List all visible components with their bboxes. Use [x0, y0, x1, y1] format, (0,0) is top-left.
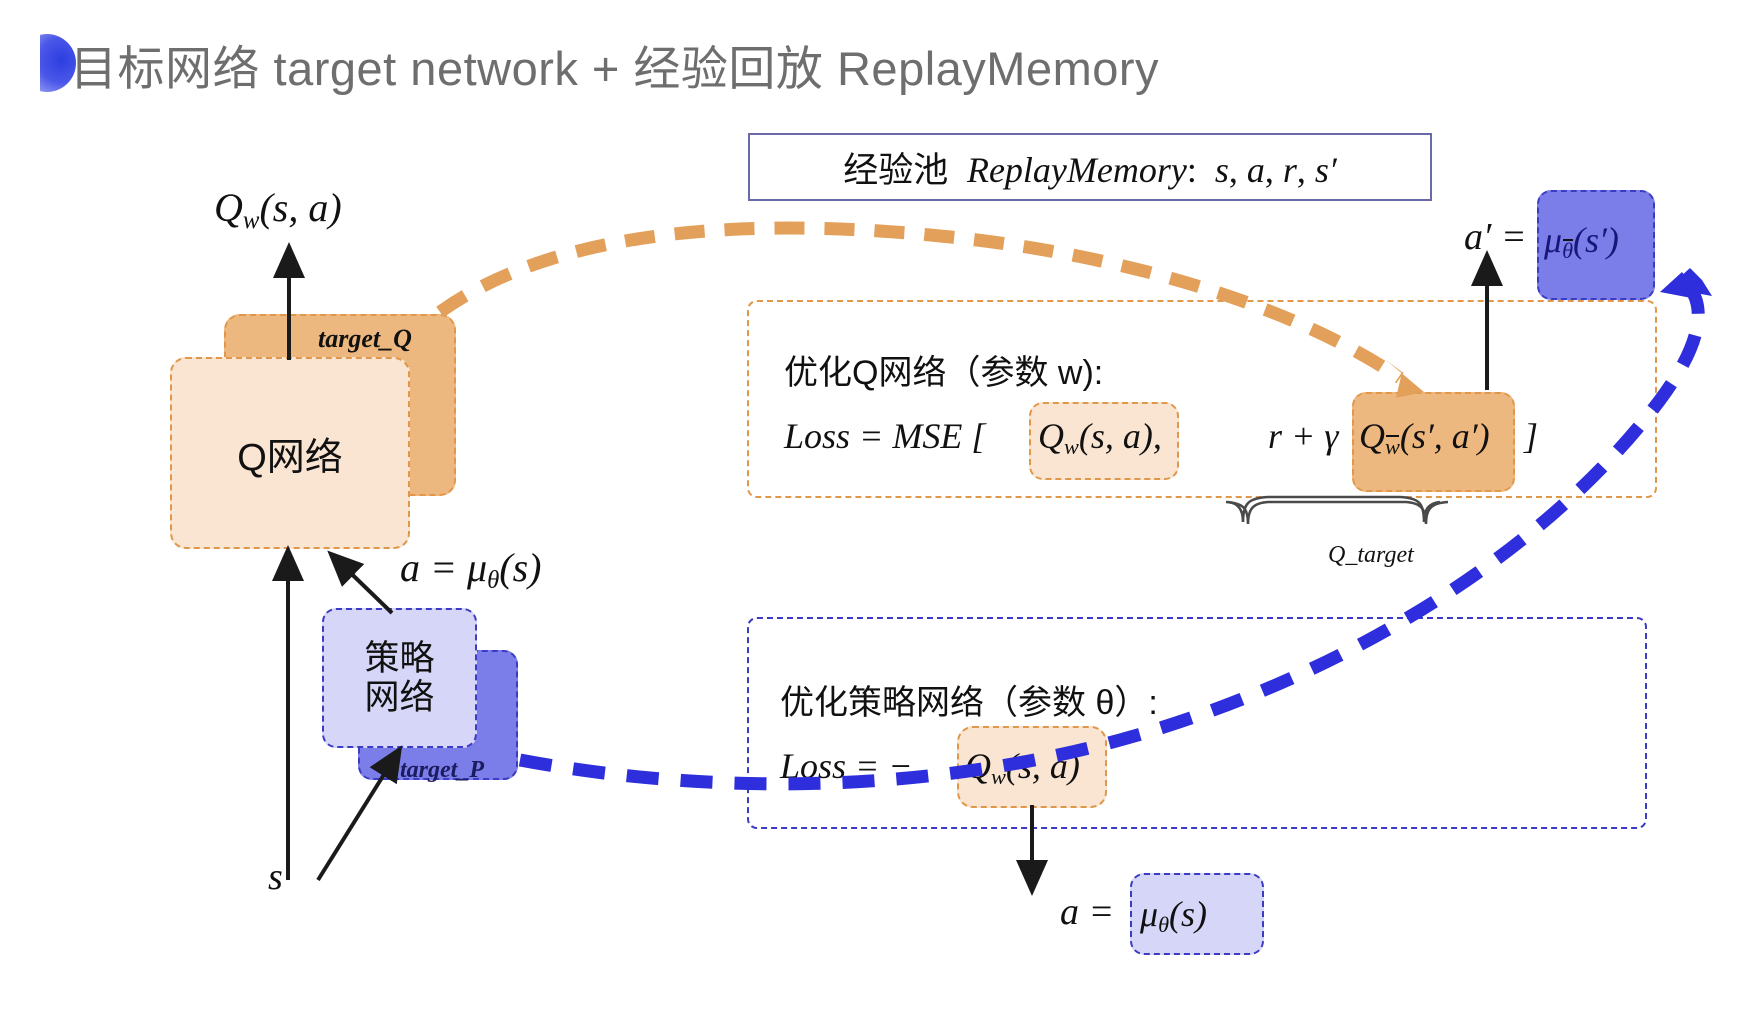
q-loss-bracket-close: ]	[1524, 418, 1538, 454]
q-current-term: Qw(s, a),	[1038, 418, 1162, 459]
state-input-label: s	[268, 858, 283, 896]
target-q-label: target_Q	[318, 326, 412, 352]
q-network-box: Q网络	[170, 357, 410, 549]
q-output-label: Qw(s, a)	[214, 188, 342, 234]
replay-memory-label: 经验池 ReplayMemory: s, a, r, s′	[843, 142, 1337, 193]
policy-action-label: a = μθ(s)	[400, 548, 541, 594]
q-optimization-panel	[747, 300, 1657, 498]
q-target-term: Qw(s′, a′)	[1359, 418, 1490, 459]
slide-canvas: 目标网络 target network + 经验回放 ReplayMemory …	[0, 0, 1746, 1036]
title-bullet-icon	[18, 34, 76, 92]
policy-network-box: 策略 网络	[322, 608, 477, 748]
q-loss-prefix: Loss = MSE [	[784, 418, 985, 454]
bottom-action-prefix: a =	[1060, 893, 1114, 931]
replay-memory-box: 经验池 ReplayMemory: s, a, r, s′	[748, 133, 1432, 201]
policy-network-label-line1: 策略	[364, 639, 434, 678]
policy-loss-prefix: Loss = −	[780, 748, 913, 784]
target-action-term: μθ(s′)	[1544, 222, 1619, 263]
q-network-label: Q网络	[237, 426, 343, 481]
bottom-action-term: μθ(s)	[1140, 896, 1207, 937]
q-target-brace-label: Q_target	[1328, 543, 1414, 567]
policy-loss-term: Qw(s, a)	[965, 748, 1080, 789]
q-target-prefix-term: r + γ	[1268, 418, 1339, 454]
target-action-prefix: a′ =	[1464, 218, 1526, 256]
page-title: 目标网络 target network + 经验回放 ReplayMemory	[70, 30, 1159, 99]
q-target-brace	[1226, 497, 1448, 524]
target-policy-label: target_P	[400, 758, 484, 782]
q-optimization-title: 优化Q网络（参数 w):	[784, 345, 1103, 394]
policy-network-label-line2: 网络	[364, 678, 434, 717]
policy-optimization-title: 优化策略网络（参数 θ）:	[780, 675, 1158, 724]
arrow-policy-to-q	[333, 556, 392, 613]
